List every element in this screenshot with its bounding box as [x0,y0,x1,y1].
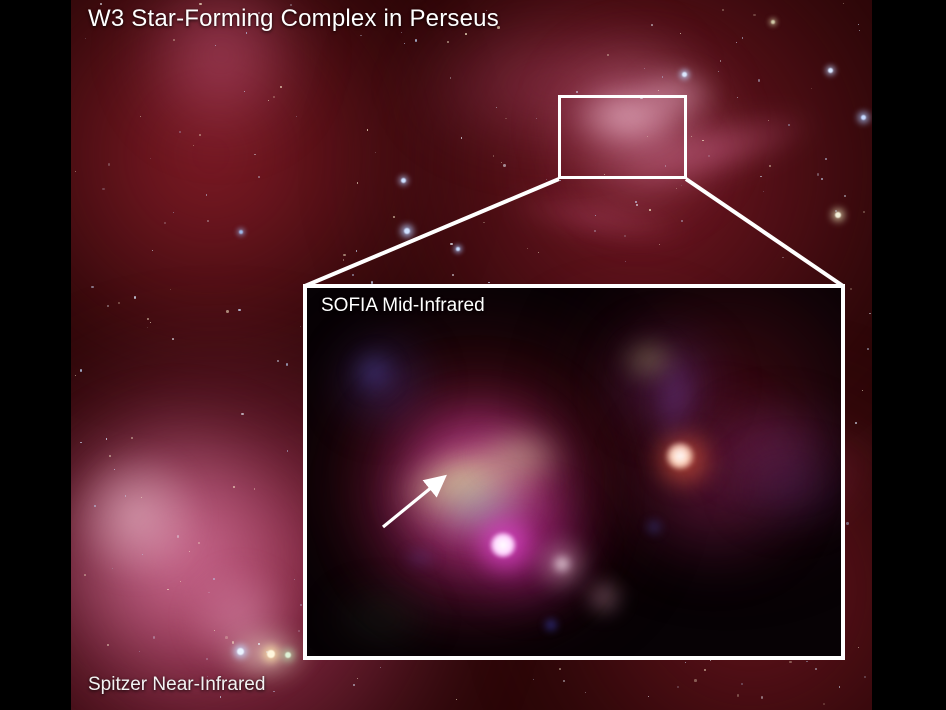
ir-blue-knot [543,618,559,632]
point-star [285,652,291,658]
point-star [267,650,275,658]
spitzer-image-label: Spitzer Near-Infrared [88,674,265,696]
callout-box [558,95,687,179]
point-star [239,230,243,234]
point-star [456,247,460,251]
point-star [835,212,841,218]
point-star [861,115,866,120]
ir-point-source [551,554,573,574]
point-star [682,72,687,77]
ir-point-source-core [665,442,695,470]
point-star [771,20,775,24]
ir-faint-emission [327,588,437,648]
sofia-image: SOFIA Mid-Infrared [307,288,841,656]
point-star [237,648,244,655]
ir-point-source [583,578,625,616]
letterbox-right [872,0,946,710]
point-star [404,228,410,234]
ir-blue-knot [645,520,663,534]
ir-blue-knot [403,550,437,566]
sofia-inset-label: SOFIA Mid-Infrared [321,295,485,317]
ir-point-source-core [489,532,517,558]
point-star [828,68,833,73]
ir-blue-patch [351,352,397,392]
letterbox-left [0,0,71,710]
point-star [401,178,406,183]
figure-canvas: SOFIA Mid-Infrared W3 Star-Forming Compl… [0,0,946,710]
sofia-inset-panel: SOFIA Mid-Infrared [303,284,845,660]
figure-title: W3 Star-Forming Complex in Perseus [88,5,499,33]
